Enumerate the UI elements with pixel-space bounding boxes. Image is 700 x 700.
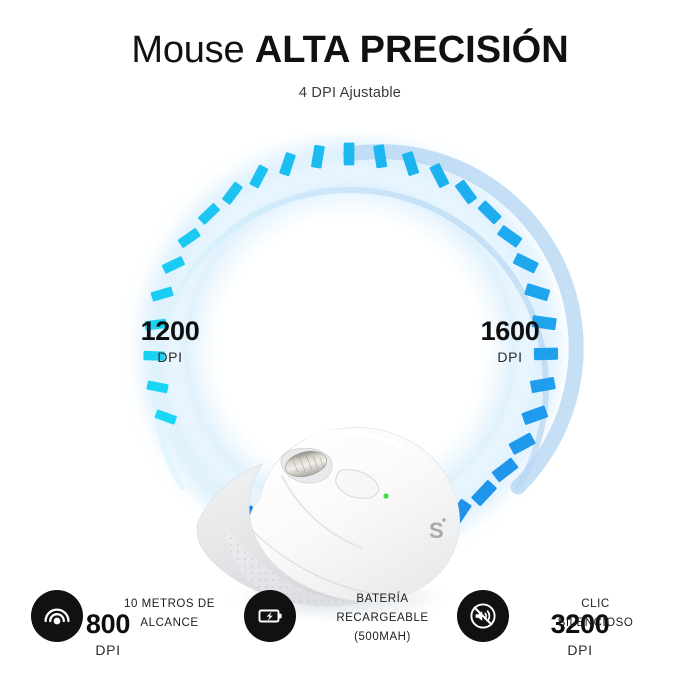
dpi-dial-stage: 1200 DPI 1600 DPI 800 DPI 3200 DPI	[0, 132, 700, 562]
dpi-label-1600-unit: DPI	[458, 350, 562, 364]
feature-silent-click-line-1: CLIC	[522, 595, 670, 614]
feature-battery: BATERÍA RECARGEABLE (500MAH)	[244, 588, 457, 647]
feature-list: 10 METROS DE ALCANCE BATERÍA RECARGEABLE…	[0, 588, 700, 680]
rechargeable-battery-icon	[244, 590, 296, 642]
page-title: Mouse ALTA PRECISIÓN	[0, 27, 700, 73]
wireless-range-icon	[31, 590, 83, 642]
page-title-bold: ALTA PRECISIÓN	[255, 29, 569, 71]
feature-battery-line-1: BATERÍA	[309, 590, 457, 609]
dpi-label-1200: 1200 DPI	[118, 318, 222, 364]
page-subtitle: 4 DPI Ajustable	[0, 85, 700, 101]
product-feature-page: Mouse ALTA PRECISIÓN 4 DPI Ajustable	[0, 0, 700, 700]
feature-range-line-1: 10 METROS DE	[96, 595, 244, 614]
dpi-label-1200-unit: DPI	[118, 350, 222, 364]
dpi-label-1600: 1600 DPI	[458, 318, 562, 364]
silent-click-icon	[457, 590, 509, 642]
feature-silent-click-text: CLIC SILENCIOSO	[522, 590, 670, 633]
dpi-label-1600-value: 1600	[458, 318, 562, 345]
dial-tick	[344, 143, 355, 166]
feature-silent-click-line-2: SILENCIOSO	[522, 614, 670, 633]
page-title-light: Mouse	[131, 29, 254, 71]
feature-battery-line-3: (500MAH)	[309, 628, 457, 647]
feature-range: 10 METROS DE ALCANCE	[31, 588, 244, 642]
page-header: Mouse ALTA PRECISIÓN 4 DPI Ajustable	[0, 0, 700, 101]
feature-range-line-2: ALCANCE	[96, 614, 244, 633]
dpi-label-1200-value: 1200	[118, 318, 222, 345]
svg-text:S: S	[429, 518, 443, 543]
feature-battery-line-2: RECARGEABLE	[309, 609, 457, 628]
led-indicator	[383, 493, 388, 498]
feature-silent-click: CLIC SILENCIOSO	[457, 588, 670, 642]
feature-range-text: 10 METROS DE ALCANCE	[96, 590, 244, 633]
feature-battery-text: BATERÍA RECARGEABLE (500MAH)	[309, 590, 457, 647]
